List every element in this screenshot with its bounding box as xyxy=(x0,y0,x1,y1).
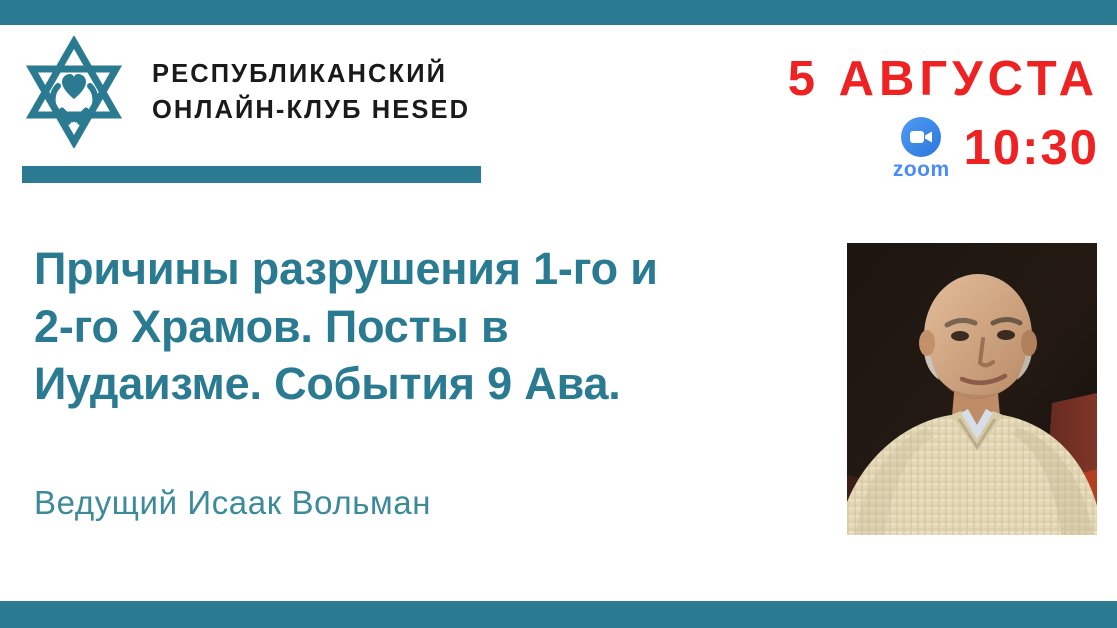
event-title: Причины разрушения 1-го и 2-го Храмов. П… xyxy=(34,240,824,413)
event-date: 5 АВГУСТА xyxy=(788,55,1099,104)
zoom-wordmark: zoom xyxy=(893,159,950,180)
header-accent-rule xyxy=(22,166,481,183)
presenter-name: Ведущий Исаак Вольман xyxy=(34,483,431,523)
event-poster: РЕСПУБЛИКАНСКИЙ ОНЛАЙН-КЛУБ HESED 5 АВГУ… xyxy=(0,0,1117,628)
club-name-line-2: ОНЛАЙН-КЛУБ HESED xyxy=(152,92,470,128)
presenter-photo xyxy=(847,243,1097,535)
schedule-block: 5 АВГУСТА xyxy=(788,55,1099,180)
bottom-accent-band xyxy=(0,601,1117,628)
club-name: РЕСПУБЛИКАНСКИЙ ОНЛАЙН-КЛУБ HESED xyxy=(152,56,470,128)
club-header: РЕСПУБЛИКАНСКИЙ ОНЛАЙН-КЛУБ HESED xyxy=(22,36,470,148)
event-title-line-2: 2-го Храмов. Посты в xyxy=(34,298,824,356)
club-name-line-1: РЕСПУБЛИКАНСКИЙ xyxy=(152,56,470,92)
zoom-camera-icon xyxy=(900,116,942,158)
event-time-row: zoom 10:30 xyxy=(788,116,1099,180)
event-title-line-1: Причины разрушения 1-го и xyxy=(34,240,824,298)
event-time: 10:30 xyxy=(964,124,1099,173)
top-accent-band xyxy=(0,0,1117,25)
star-of-david-heart-hands-icon xyxy=(22,36,126,148)
event-title-line-3: Иудаизме. События 9 Ава. xyxy=(34,355,824,413)
presenter-portrait-illustration xyxy=(847,243,1097,535)
zoom-logo: zoom xyxy=(893,116,950,180)
